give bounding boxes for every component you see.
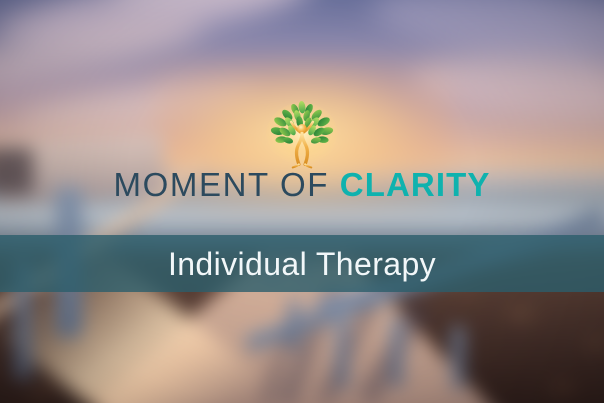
tree-of-life-icon (263, 101, 341, 169)
boardwalk-post-right (391, 317, 403, 387)
title-banner: Individual Therapy (0, 235, 604, 292)
boardwalk-post-right (452, 327, 464, 389)
page-title: Individual Therapy (168, 248, 436, 280)
brand-name-bold: CLARITY (340, 166, 491, 203)
hero-banner-image: MOMENT OF CLARITY Individual Therapy (0, 0, 604, 403)
boardwalk-post-right (336, 308, 348, 388)
boardwalk-post-right (288, 298, 300, 350)
brand-wordmark: MOMENT OF CLARITY (0, 168, 604, 201)
brand-name-light: MOMENT OF (114, 166, 329, 203)
